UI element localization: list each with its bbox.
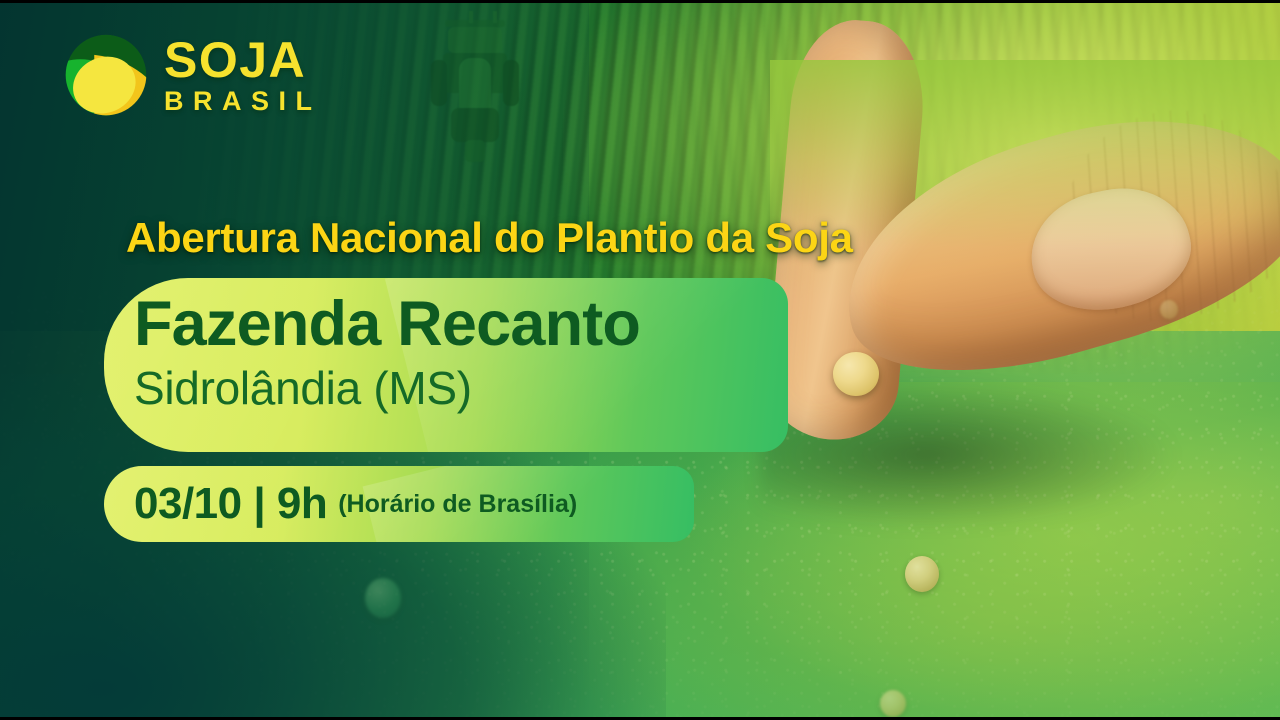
promo-banner: SOJA BRASIL Abertura Nacional do Plantio…	[0, 0, 1280, 720]
logo[interactable]: SOJA BRASIL	[64, 33, 322, 117]
event-headline: Abertura Nacional do Plantio da Soja	[126, 214, 853, 262]
farm-info-panel: Fazenda Recanto Sidrolândia (MS)	[104, 278, 788, 452]
event-timezone-note: (Horário de Brasília)	[338, 490, 577, 519]
soybean-seed-falling	[365, 578, 401, 618]
event-date-time: 03/10 | 9h	[134, 479, 327, 529]
hand-holding-seed	[770, 60, 1280, 560]
farm-name: Fazenda Recanto	[134, 292, 788, 356]
soybean-seed-pinched	[833, 352, 879, 396]
soybean-circle-logo-icon	[64, 33, 148, 117]
farm-location: Sidrolândia (MS)	[134, 360, 788, 416]
event-datetime-panel: 03/10 | 9h (Horário de Brasília)	[104, 466, 694, 542]
logo-wordmark: SOJA BRASIL	[164, 35, 322, 115]
letterbox-top	[0, 0, 1280, 3]
logo-text-soja: SOJA	[164, 35, 322, 85]
soybean-seed-falling	[880, 690, 906, 717]
soybean-seed-falling	[905, 556, 939, 592]
logo-text-brasil: BRASIL	[164, 88, 322, 115]
soybean-seed-falling	[1160, 300, 1178, 319]
